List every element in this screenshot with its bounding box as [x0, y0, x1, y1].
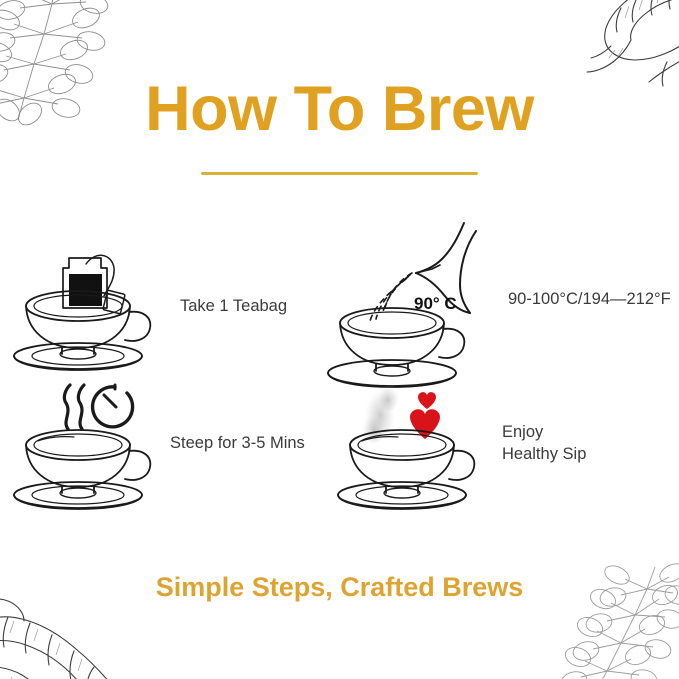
how-to-brew-infographic: How To Brew — [0, 0, 679, 679]
step-take-teabag: Take 1 Teabag — [12, 246, 342, 366]
step-label: Enjoy Healthy Sip — [502, 421, 586, 466]
step-label: 90-100°C/194—212°F — [508, 288, 671, 310]
teacup-with-teabag-icon — [12, 244, 152, 369]
steaming-teacup-with-hearts-icon — [336, 381, 476, 506]
ginger-root-icon — [577, 0, 679, 90]
step-label: Steep for 3-5 Mins — [170, 432, 305, 454]
heart-icon-small — [418, 392, 436, 409]
title-divider — [201, 172, 478, 175]
step-water-temperature: 90° C 90-100°C/194—212°F — [336, 232, 679, 366]
steaming-teacup-with-timer-icon — [12, 381, 152, 506]
temperature-badge: 90° C — [414, 294, 457, 313]
step-label: Take 1 Teabag — [180, 295, 287, 317]
footer-tagline: Simple Steps, Crafted Brews — [0, 572, 679, 603]
kettle-pouring-into-teacup-icon: 90° C — [336, 229, 486, 369]
step-enjoy: Enjoy Healthy Sip — [336, 382, 679, 504]
page-title: How To Brew — [0, 78, 679, 141]
step-steep-time: Steep for 3-5 Mins — [12, 382, 342, 504]
